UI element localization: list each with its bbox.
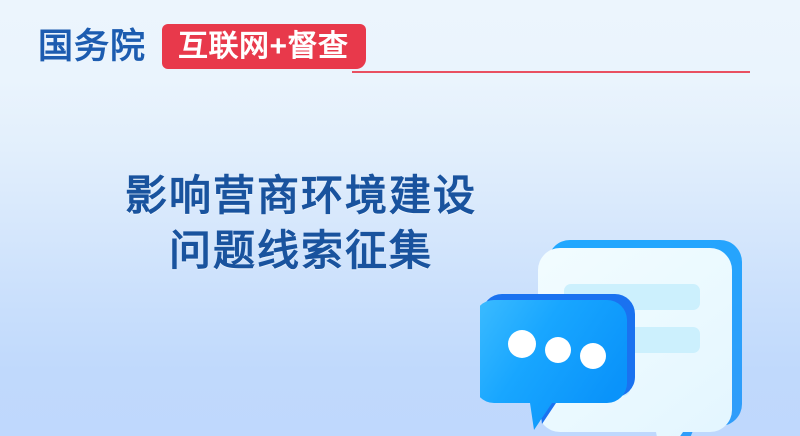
header-divider-rule [352,71,750,73]
banner-header: 国务院 互联网+督查 [0,0,800,92]
campaign-badge-label: 互联网+督查 [178,32,349,62]
headline-line-2: 问题线索征集 [56,223,546,278]
campaign-badge: 互联网+督查 [162,24,366,69]
front-bubble-dot-1 [508,330,536,358]
headline-line-1: 影响营商环境建设 [56,168,546,223]
front-bubble-dot-2 [545,337,571,363]
organization-name: 国务院 [38,25,146,69]
chat-bubbles-illustration [480,212,800,436]
campaign-banner: 国务院 互联网+督查 影响营商环境建设 问题线索征集 [0,0,800,436]
headline-block: 影响营商环境建设 问题线索征集 [56,168,546,278]
chat-bubbles-svg [480,212,800,436]
front-bubble-dot-3 [580,343,606,369]
